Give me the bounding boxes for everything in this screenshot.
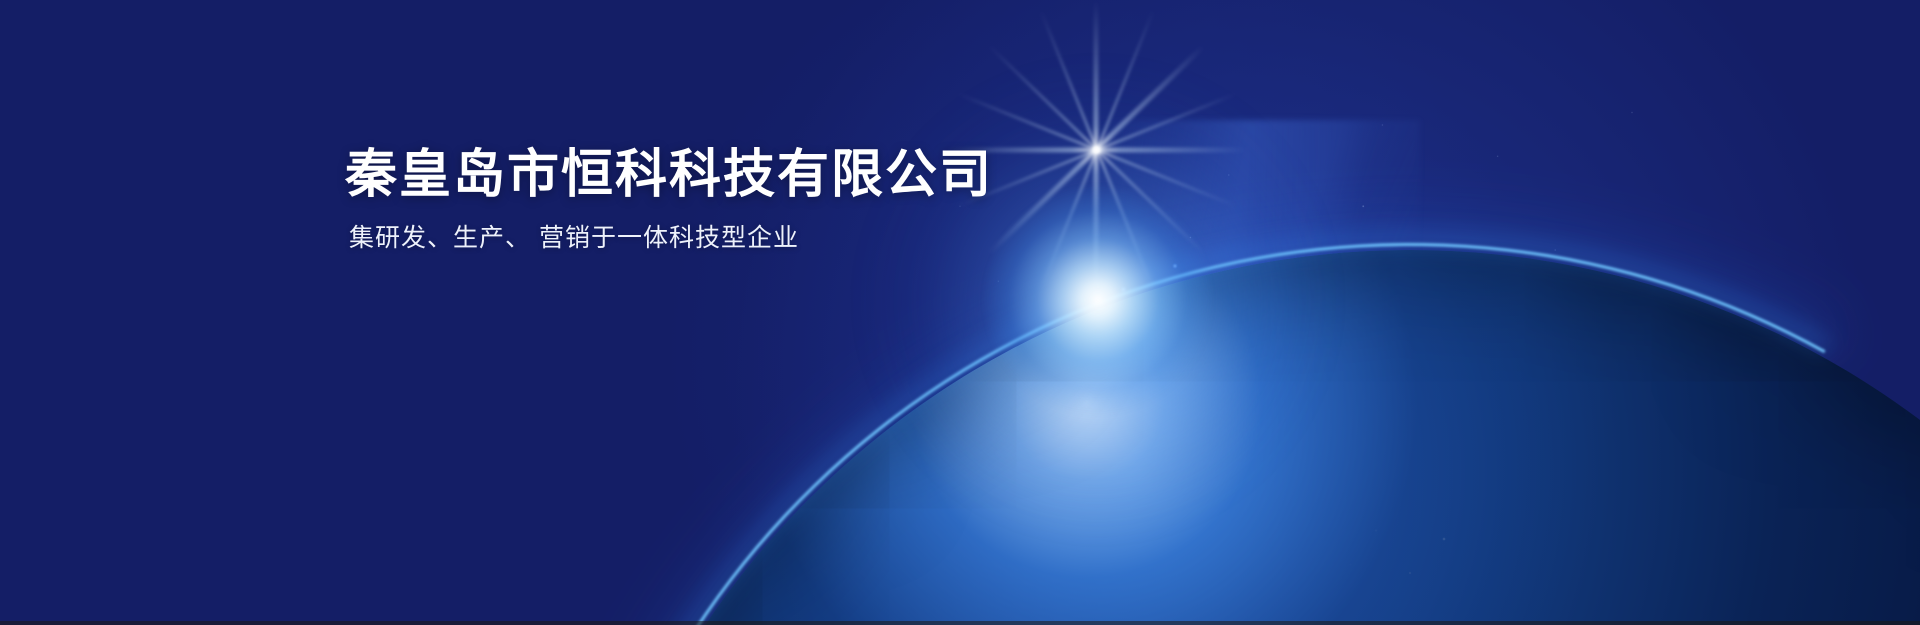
star-field (0, 0, 1920, 625)
lens-flare-dot-icon (1120, 286, 1127, 293)
bottom-edge-strip (0, 621, 1920, 625)
company-tagline-subheadline: 集研发、生产、 营销于一体科技型企业 (349, 222, 993, 255)
company-name-headline: 秦皇岛市恒科科技有限公司 (345, 146, 993, 206)
hero-banner: 秦皇岛市恒科科技有限公司 集研发、生产、 营销于一体科技型企业 (0, 0, 1920, 625)
lens-flare-dot-icon (1172, 263, 1178, 269)
hero-text-block: 秦皇岛市恒科科技有限公司 集研发、生产、 营销于一体科技型企业 (345, 146, 993, 254)
